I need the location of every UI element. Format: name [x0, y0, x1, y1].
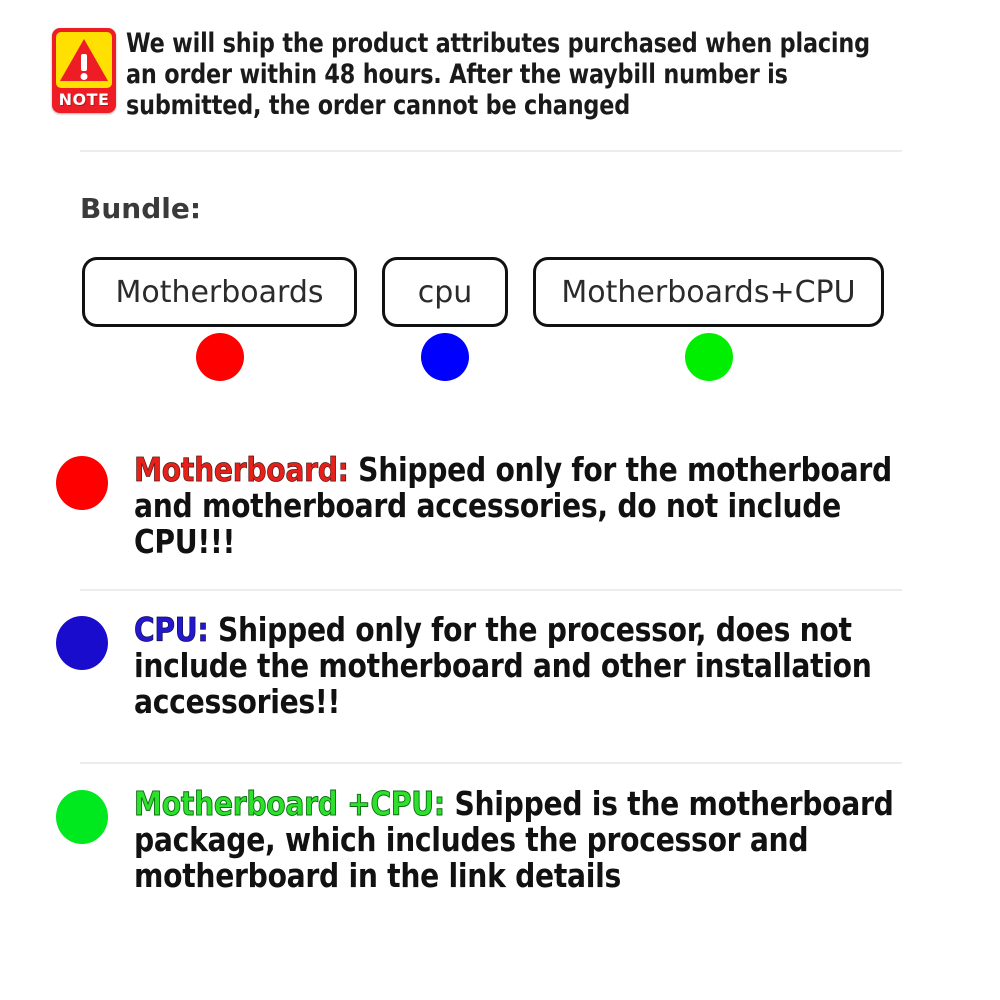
shipping-notice-banner: NOTE We will ship the product attributes…	[52, 28, 952, 121]
green-dot	[685, 333, 733, 381]
green-dot	[56, 790, 108, 844]
divider-top	[80, 150, 902, 152]
bundle-option-cpu[interactable]: cpu	[382, 257, 508, 381]
shipping-notice-text: We will ship the product attributes purc…	[126, 28, 886, 121]
legend-item-body: Shipped only for the processor, does not…	[134, 610, 872, 721]
warning-badge-inner	[56, 32, 112, 88]
bundle-option-motherboards-plus-cpu[interactable]: Motherboards+CPU	[533, 257, 884, 381]
exclamation-bar-icon	[81, 54, 87, 71]
legend-item-text: Motherboard +CPU: Shipped is the motherb…	[134, 786, 915, 894]
bundle-option-label[interactable]: Motherboards+CPU	[533, 257, 884, 327]
bundle-label: Bundle:	[80, 192, 201, 226]
blue-dot	[56, 616, 108, 670]
red-dot	[56, 456, 108, 510]
legend-item-heading: Motherboard +CPU:	[134, 784, 445, 823]
bundle-options: Motherboards cpu Motherboards+CPU	[82, 257, 884, 381]
bundle-option-label[interactable]: Motherboards	[82, 257, 357, 327]
legend-item-motherboard: Motherboard: Shipped only for the mother…	[56, 452, 956, 560]
exclamation-dot-icon	[81, 73, 88, 80]
red-dot	[196, 333, 244, 381]
legend-item-heading: CPU:	[134, 610, 208, 649]
bundle-option-label[interactable]: cpu	[382, 257, 508, 327]
divider-middle	[80, 589, 902, 591]
product-attributes-info-page: NOTE We will ship the product attributes…	[0, 0, 1000, 1000]
warning-note-icon: NOTE	[52, 28, 116, 113]
legend-item-text: Motherboard: Shipped only for the mother…	[134, 452, 915, 560]
note-label: NOTE	[52, 90, 116, 110]
blue-dot	[421, 333, 469, 381]
legend-item-cpu: CPU: Shipped only for the processor, doe…	[56, 612, 956, 720]
legend-item-heading: Motherboard:	[134, 450, 349, 489]
divider-bottom	[80, 762, 902, 764]
legend-item-text: CPU: Shipped only for the processor, doe…	[134, 612, 915, 720]
bundle-option-motherboards[interactable]: Motherboards	[82, 257, 357, 381]
legend-item-motherboard-plus-cpu: Motherboard +CPU: Shipped is the motherb…	[56, 786, 956, 894]
